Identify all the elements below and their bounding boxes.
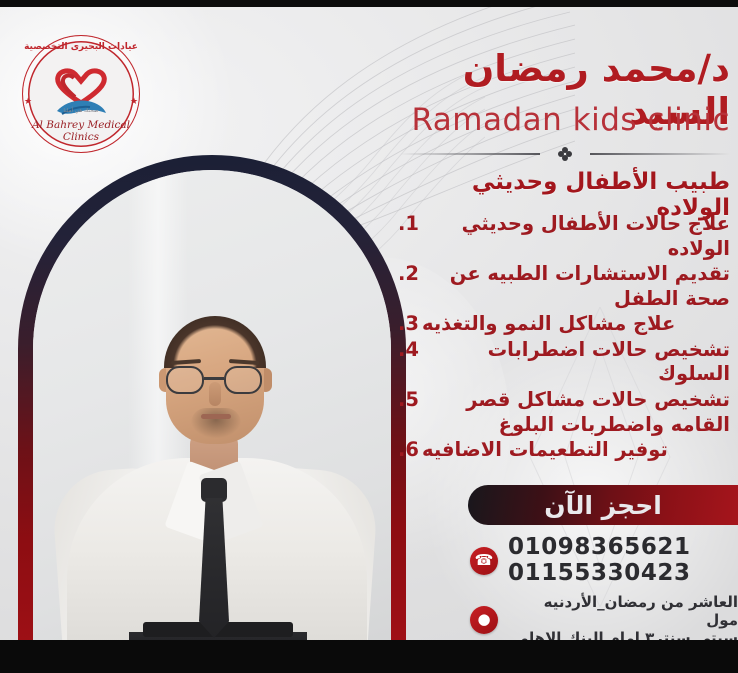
service-number: 3. <box>398 312 419 337</box>
service-text: تشخيص حالات اضطرابات السلوك <box>422 338 730 387</box>
service-text: علاج حالات الأطفال وحديثي الولاده <box>422 212 730 261</box>
content-column: د/محمد رمضان السيد Ramadan kids clinic ط… <box>392 7 738 640</box>
lens-left <box>166 366 204 394</box>
address-row[interactable]: ● العاشر من رمضان_الأردنيه مول سيتي سنتر… <box>470 593 738 641</box>
clinic-poster: عيادات البحيرى التخصصية صحتك هي أملنا ★ … <box>0 0 738 673</box>
service-number: 2. <box>398 262 419 287</box>
poster-canvas: عيادات البحيرى التخصصية صحتك هي أملنا ★ … <box>0 7 738 640</box>
top-letterbox-band <box>0 0 738 7</box>
star-icon: ★ <box>130 97 138 107</box>
clinic-logo: عيادات البحيرى التخصصية صحتك هي أملنا ★ … <box>14 35 154 153</box>
address-line: العاشر من رمضان_الأردنيه مول <box>508 593 738 630</box>
contact-block: ☎ 01098365621 01155330423 ● العاشر من رم… <box>470 535 738 640</box>
mouth <box>201 414 231 419</box>
beard-shadow <box>191 408 241 438</box>
divider <box>400 147 730 161</box>
service-item: توفير التطعيمات الاضافيه 6. <box>398 438 730 463</box>
services-list: علاج حالات الأطفال وحديثي الولاده 1. تقد… <box>398 212 730 464</box>
service-item: علاج مشاكل النمو والتغذيه 3. <box>398 312 730 337</box>
address-lines: العاشر من رمضان_الأردنيه مول سيتي سنتر٣ … <box>508 593 738 641</box>
phone-number[interactable]: 01155330423 <box>508 561 691 587</box>
service-item: علاج حالات الأطفال وحديثي الولاده 1. <box>398 212 730 261</box>
address-line: سيتي سنتر٣ امام البنك الاهلي <box>508 629 738 640</box>
service-number: 6. <box>398 438 419 463</box>
lens-right <box>224 366 262 394</box>
service-item: تقديم الاستشارات الطبيه عن صحة الطفل 2. <box>398 262 730 311</box>
divider-line-left <box>400 153 540 155</box>
bottom-letterbox-band <box>0 640 738 673</box>
logo-tagline: صحتك هي أملنا <box>22 108 140 114</box>
logo-english-text: Al Bahrey Medical Clinics <box>22 119 140 143</box>
book-now-button[interactable]: احجز الآن <box>468 485 738 525</box>
phone-number[interactable]: 01098365621 <box>508 535 691 561</box>
phone-numbers: 01098365621 01155330423 <box>508 535 691 587</box>
phone-icon: ☎ <box>470 547 498 575</box>
clinic-name-english: Ramadan kids clinic <box>400 102 730 138</box>
divider-line-right <box>590 153 730 155</box>
service-item: تشخيص حالات اضطرابات السلوك 4. <box>398 338 730 387</box>
location-pin-icon: ● <box>470 606 498 634</box>
phone-row[interactable]: ☎ 01098365621 01155330423 <box>470 535 738 587</box>
service-text: علاج مشاكل النمو والتغذيه <box>422 312 675 337</box>
service-item: تشخيص حالات مشاكل قصر القامه واضطربات ال… <box>398 388 730 437</box>
star-icon: ★ <box>24 97 32 107</box>
doctor-portrait <box>33 170 391 640</box>
service-text: تقديم الاستشارات الطبيه عن صحة الطفل <box>422 262 730 311</box>
service-text: توفير التطعيمات الاضافيه <box>422 438 668 463</box>
nose <box>209 382 221 406</box>
service-number: 5. <box>398 388 419 413</box>
arch-inner <box>33 170 391 640</box>
glasses-bridge <box>204 377 224 380</box>
service-number: 4. <box>398 338 419 363</box>
service-text: تشخيص حالات مشاكل قصر القامه واضطربات ال… <box>422 388 730 437</box>
portrait-arch <box>18 155 406 640</box>
diamond-ornament-icon <box>558 147 572 161</box>
service-number: 1. <box>398 212 419 237</box>
